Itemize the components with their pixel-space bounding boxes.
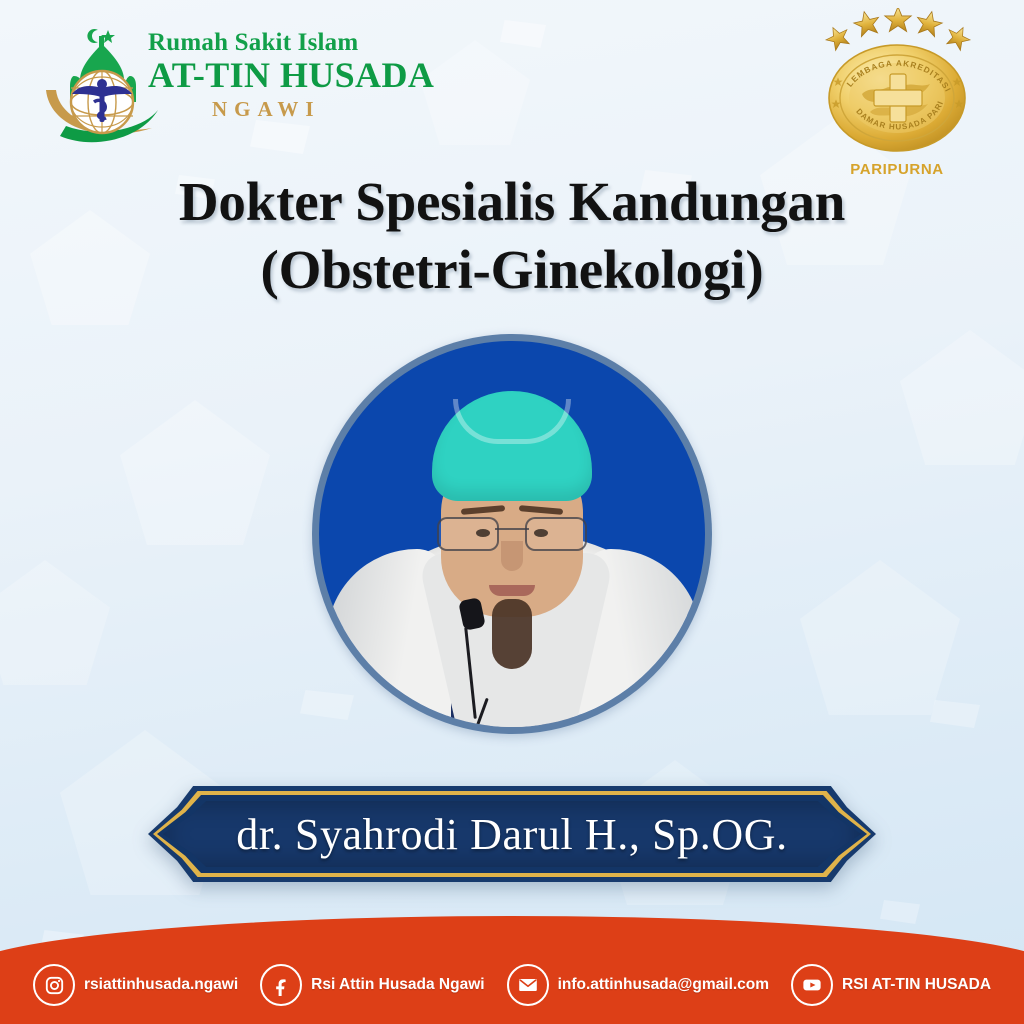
hospital-name-line1: Rumah Sakit Islam xyxy=(148,30,448,55)
instagram-handle[interactable]: rsiattinhusada.ngawi xyxy=(84,976,238,994)
bg-chip xyxy=(880,900,920,924)
facebook-page-name[interactable]: Rsi Attin Husada Ngawi xyxy=(311,976,484,994)
youtube-channel-name[interactable]: RSI AT-TIN HUSADA xyxy=(842,976,991,994)
contact-youtube[interactable]: RSI AT-TIN HUSADA xyxy=(780,964,1002,1006)
email-icon[interactable] xyxy=(507,964,549,1006)
poster-canvas: Rumah Sakit Islam AT-TIN HUSADA NGAWI xyxy=(0,0,1024,1024)
page-title: Dokter Spesialis Kandungan (Obstetri-Gin… xyxy=(0,168,1024,303)
contact-email[interactable]: info.attinhusada@gmail.com xyxy=(496,964,780,1006)
accreditation-seal: LEMBAGA AKREDITASI RUMAH SAKIT DAMAR HUS… xyxy=(812,8,982,180)
doctor-photo-ring xyxy=(312,334,712,734)
instagram-icon[interactable] xyxy=(33,964,75,1006)
hospital-logo-text: Rumah Sakit Islam AT-TIN HUSADA NGAWI xyxy=(148,30,448,120)
page-title-line2: (Obstetri-Ginekologi) xyxy=(0,236,1024,304)
bg-chip xyxy=(500,20,546,48)
bg-chip xyxy=(930,700,980,728)
glasses-lens-left xyxy=(437,517,499,551)
accreditation-seal-icon: LEMBAGA AKREDITASI RUMAH SAKIT DAMAR HUS… xyxy=(812,8,982,180)
doctor-name-banner: dr. Syahrodi Darul H., Sp.OG. xyxy=(148,786,876,882)
doctor-photo xyxy=(319,341,705,727)
contact-facebook[interactable]: Rsi Attin Husada Ngawi xyxy=(249,964,495,1006)
beard xyxy=(492,599,532,669)
doctor-name: dr. Syahrodi Darul H., Sp.OG. xyxy=(148,786,876,882)
email-address[interactable]: info.attinhusada@gmail.com xyxy=(558,976,769,994)
mosque-globe-caduceus-logo-icon xyxy=(44,24,160,148)
contact-instagram[interactable]: rsiattinhusada.ngawi xyxy=(22,964,249,1006)
hospital-name-line2: AT-TIN HUSADA xyxy=(148,57,448,94)
hospital-city: NGAWI xyxy=(212,99,448,120)
youtube-icon[interactable] xyxy=(791,964,833,1006)
bg-pentagon xyxy=(120,400,270,545)
glasses-icon xyxy=(437,517,587,547)
page-title-line1: Dokter Spesialis Kandungan xyxy=(0,168,1024,236)
hospital-logo: Rumah Sakit Islam AT-TIN HUSADA NGAWI xyxy=(44,22,404,150)
mouth xyxy=(489,585,535,596)
glasses-lens-right xyxy=(525,517,587,551)
bg-pentagon xyxy=(0,560,110,685)
facebook-icon[interactable] xyxy=(260,964,302,1006)
glasses-bridge xyxy=(495,528,529,530)
bg-pentagon xyxy=(900,330,1024,465)
bg-pentagon xyxy=(800,560,960,715)
footer-contacts: rsiattinhusada.ngawi Rsi Attin Husada Ng… xyxy=(40,946,984,1024)
